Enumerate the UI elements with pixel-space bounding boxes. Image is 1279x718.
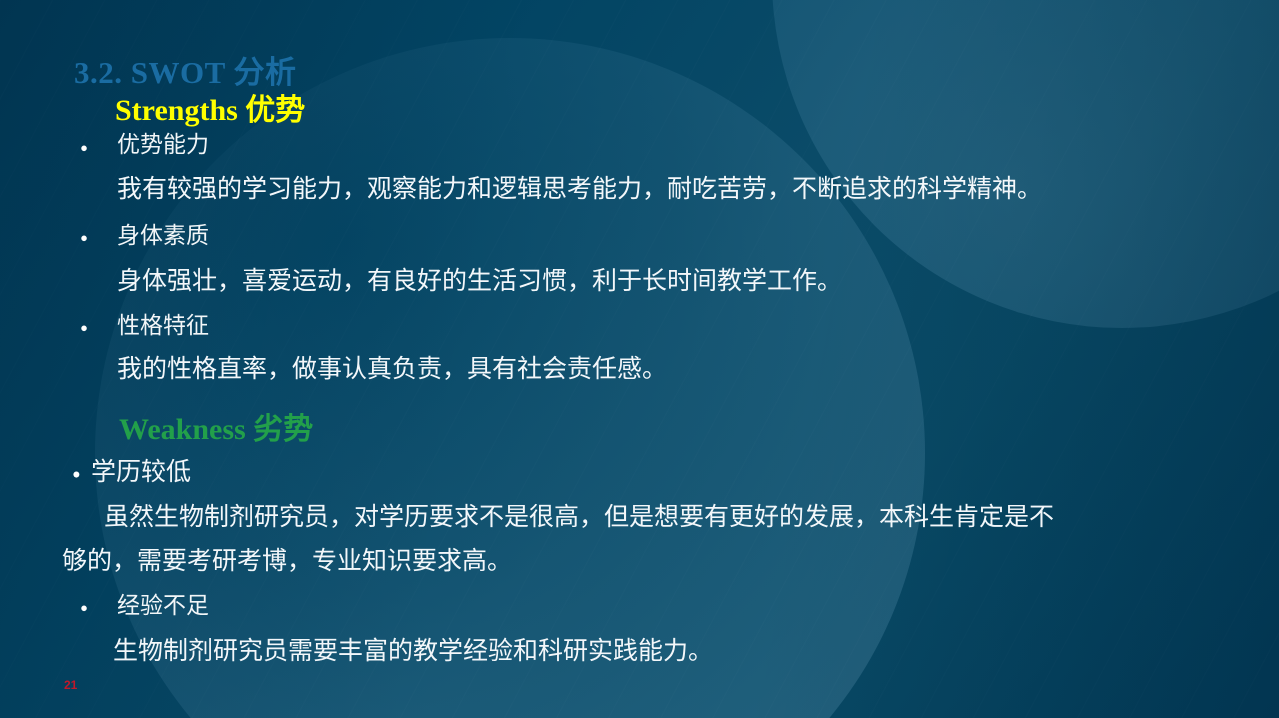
bullet-icon: •: [80, 597, 88, 620]
strengths-item-title-3: 性格特征: [117, 314, 209, 337]
weakness-item-body-2: 生物制剂研究员需要丰富的教学经验和科研实践能力。: [113, 639, 713, 664]
slide-canvas: 3.2. SWOT 分析 Strengths 优势 • 优势能力 我有较强的学习…: [0, 0, 1279, 718]
strengths-item-body-1: 我有较强的学习能力，观察能力和逻辑思考能力，耐吃苦劳，不断追求的科学精神。: [117, 177, 1042, 202]
strengths-heading: Strengths 优势: [115, 85, 305, 129]
strengths-item-title-1: 优势能力: [117, 133, 209, 156]
strengths-item-body-3: 我的性格直率，做事认真负责，具有社会责任感。: [117, 357, 667, 382]
weakness-item-title-2: 经验不足: [117, 594, 209, 617]
weakness-item-body-1-line-1: 虽然生物制剂研究员，对学历要求不是很高，但是想要有更好的发展，本科生肯定是不: [104, 505, 1054, 530]
bullet-icon: •: [72, 462, 81, 490]
weakness-item-body-1-line-2: 够的，需要考研考博，专业知识要求高。: [62, 549, 512, 574]
strengths-item-body-2: 身体强壮，喜爱运动，有良好的生活习惯，利于长时间教学工作。: [117, 269, 842, 294]
slide-content: 3.2. SWOT 分析 Strengths 优势 • 优势能力 我有较强的学习…: [0, 0, 1279, 718]
bullet-icon: •: [80, 227, 88, 250]
strengths-item-title-2: 身体素质: [117, 224, 209, 247]
weakness-heading: Weakness 劣势: [119, 404, 313, 448]
bullet-icon: •: [80, 137, 88, 160]
weakness-item-title-1: 学历较低: [91, 460, 191, 485]
bullet-icon: •: [80, 317, 88, 340]
page-number: 21: [64, 678, 77, 692]
